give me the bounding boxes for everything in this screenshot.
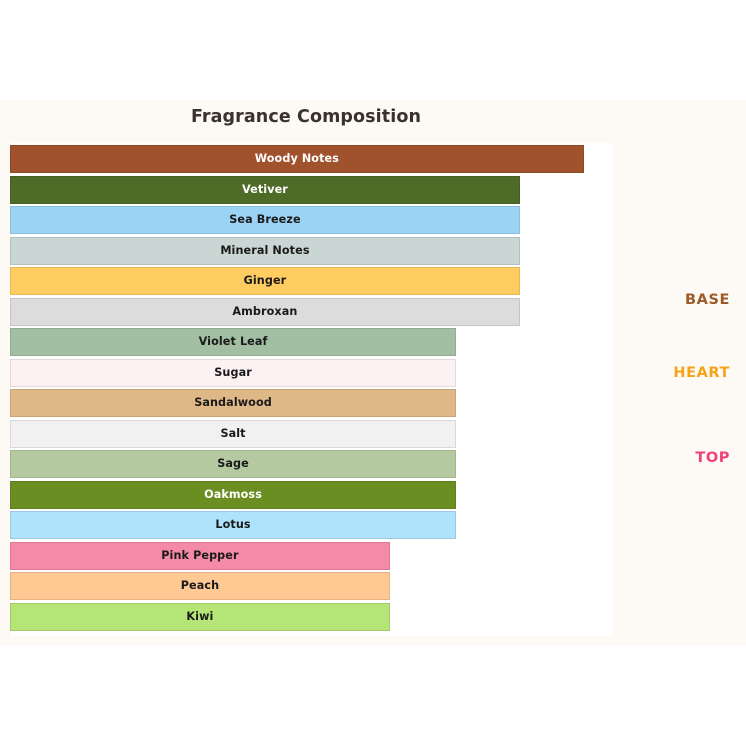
bar-row[interactable]: Ambroxan — [10, 298, 520, 326]
bar-label: Sandalwood — [194, 397, 272, 408]
bar-label: Sugar — [214, 367, 252, 378]
bar-row[interactable]: Sugar — [10, 359, 456, 387]
accord-label-top: TOP — [695, 450, 730, 466]
bar-label: Ambroxan — [232, 306, 297, 317]
bar-label: Violet Leaf — [199, 336, 268, 347]
bar-label: Mineral Notes — [220, 245, 309, 256]
bar-row[interactable]: Violet Leaf — [10, 328, 456, 356]
bar-row[interactable]: Woody Notes — [10, 145, 584, 173]
bar-row[interactable]: Peach — [10, 572, 390, 600]
bar-row[interactable]: Vetiver — [10, 176, 520, 204]
bar-row[interactable]: Kiwi — [10, 603, 390, 631]
bar-row[interactable]: Pink Pepper — [10, 542, 390, 570]
bar-label: Oakmoss — [204, 489, 262, 500]
bar-row[interactable]: Oakmoss — [10, 481, 456, 509]
accord-label-heart: HEART — [673, 365, 730, 381]
bar-label: Sage — [217, 458, 249, 469]
bar-row[interactable]: Lotus — [10, 511, 456, 539]
screenshot-root: Fragrance Composition Woody NotesVetiver… — [0, 0, 746, 746]
bar-row[interactable]: Salt — [10, 420, 456, 448]
bar-label: Woody Notes — [255, 153, 339, 164]
bar-label: Pink Pepper — [161, 550, 238, 561]
bar-row[interactable]: Sandalwood — [10, 389, 456, 417]
bar-label: Kiwi — [186, 611, 213, 622]
bar-label: Salt — [220, 428, 245, 439]
bar-label: Sea Breeze — [229, 214, 300, 225]
bar-label: Ginger — [244, 275, 287, 286]
bar-row[interactable]: Sea Breeze — [10, 206, 520, 234]
bar-label: Lotus — [215, 519, 250, 530]
chart-figure: Fragrance Composition Woody NotesVetiver… — [0, 100, 746, 646]
bar-row[interactable]: Ginger — [10, 267, 520, 295]
page-title: Fragrance Composition — [0, 107, 612, 127]
accord-label-base: BASE — [685, 292, 730, 308]
bar-label: Peach — [181, 580, 219, 591]
bar-row[interactable]: Sage — [10, 450, 456, 478]
plot-area: Woody NotesVetiverSea BreezeMineral Note… — [10, 143, 612, 636]
bar-row[interactable]: Mineral Notes — [10, 237, 520, 265]
bar-label: Vetiver — [242, 184, 288, 195]
